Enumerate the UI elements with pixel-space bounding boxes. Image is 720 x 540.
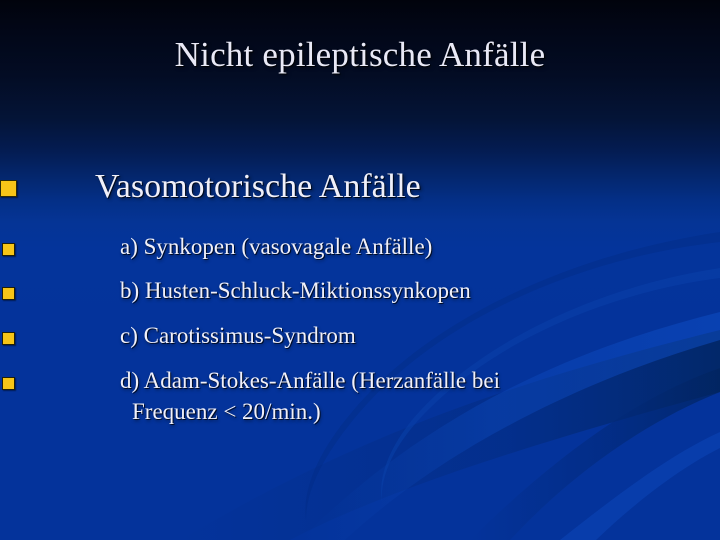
slide-body: Vasomotorische Anfälle a) Synkopen (vaso… xyxy=(0,165,720,441)
square-bullet-icon xyxy=(2,332,15,345)
bullet-text: a) Synkopen (vasovagale Anfälle) xyxy=(50,231,432,263)
bullet-text-line1: d) Adam-Stokes-Anfälle (Herzanfälle bei xyxy=(120,368,500,393)
square-bullet-icon xyxy=(0,180,17,197)
slide-title: Nicht epileptische Anfälle xyxy=(0,36,720,75)
presentation-slide: Nicht epileptische Anfälle Vasomotorisch… xyxy=(0,0,720,540)
bullet-marker-cell xyxy=(0,275,50,300)
bullet-item-level2: d) Adam-Stokes-Anfälle (Herzanfälle bei … xyxy=(0,365,720,428)
bullet-text: c) Carotissimus-Syndrom xyxy=(50,320,356,352)
bullet-item-level2: c) Carotissimus-Syndrom xyxy=(0,320,720,352)
swoosh-highlight xyxy=(560,432,720,540)
bullet-marker-cell xyxy=(0,320,50,345)
bullet-text-line2: Frequenz < 20/min.) xyxy=(120,396,500,428)
bullet-marker-cell xyxy=(0,365,50,390)
bullet-text: b) Husten-Schluck-Miktionssynkopen xyxy=(50,275,471,307)
bullet-item-level2: a) Synkopen (vasovagale Anfälle) xyxy=(0,231,720,263)
bullet-text-multiline: d) Adam-Stokes-Anfälle (Herzanfälle bei … xyxy=(50,365,500,428)
square-bullet-icon xyxy=(2,287,15,300)
bullet-marker-cell xyxy=(0,165,50,197)
bullet-item-level1: Vasomotorische Anfälle xyxy=(0,165,720,209)
bullet-text: Vasomotorische Anfälle xyxy=(50,165,421,209)
square-bullet-icon xyxy=(2,243,15,256)
bullet-item-level2: b) Husten-Schluck-Miktionssynkopen xyxy=(0,275,720,307)
square-bullet-icon xyxy=(2,377,15,390)
bullet-marker-cell xyxy=(0,231,50,256)
